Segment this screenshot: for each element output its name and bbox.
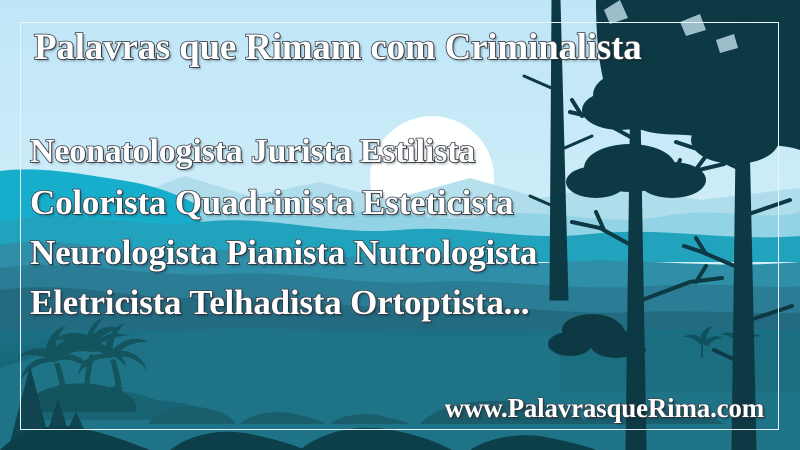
- site-url-watermark: www.PalavrasqueRima.com: [445, 393, 764, 424]
- page-title: Palavras que Rimam com Criminalista: [34, 26, 642, 69]
- rhyme-banner-image: Palavras que Rimam com Criminalista Neon…: [0, 0, 800, 450]
